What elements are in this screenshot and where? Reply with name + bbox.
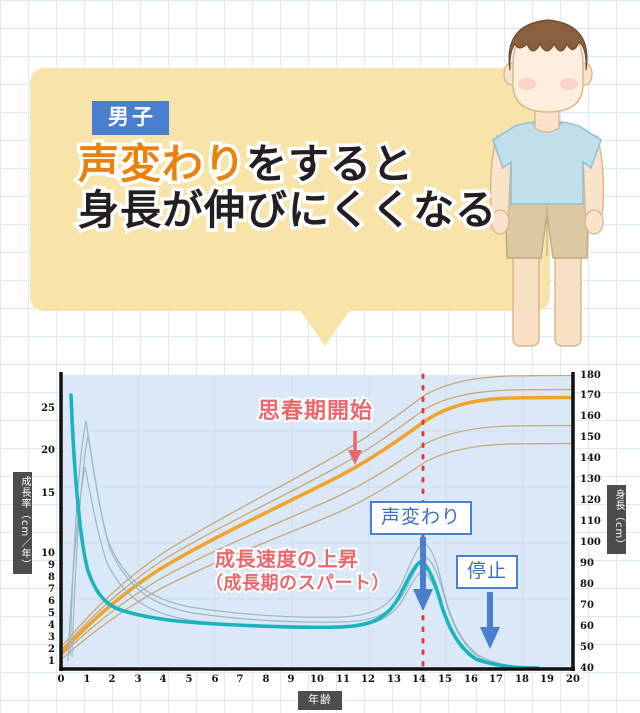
headline-orange-text: 声変わり [78,140,246,188]
tick-right-160: 160 [580,411,604,422]
tick-x-11: 11 [335,674,351,685]
tick-right-70: 70 [580,600,604,611]
tick-left-6: 6 [33,596,55,607]
tick-left-3: 3 [33,632,55,643]
tick-right-120: 120 [580,495,604,506]
tick-right-50: 50 [580,642,604,653]
tick-x-5: 5 [181,674,197,685]
tick-left-10: 10 [33,548,55,559]
tick-x-6: 6 [207,674,223,685]
tick-right-130: 130 [580,474,604,485]
tick-x-9: 9 [283,674,299,685]
page-title: 声変わりをすると 身長が伸びにくくなる [78,142,497,234]
tick-left-5: 5 [33,608,55,619]
tick-right-60: 60 [580,621,604,632]
tick-left-20: 20 [33,445,55,456]
growth-chart: 成長率（cm／年） 身長（cm） 年齢 25 20 15 10 9 8 7 6 … [0,355,640,713]
tick-right-180: 180 [580,370,604,381]
tick-right-40: 40 [580,663,604,674]
tick-left-9: 9 [33,560,55,571]
tick-x-4: 4 [155,674,171,685]
tick-x-16: 16 [463,674,479,685]
tick-left-25: 25 [33,403,55,414]
tick-x-17: 17 [488,674,504,685]
y-axis-left-title: 成長率（cm／年） [13,472,32,574]
headline-line2: 身長が伸びにくくなる [78,186,497,234]
tick-right-170: 170 [580,390,604,401]
gender-badge: 男子 [92,101,169,135]
headline-black-text: をすると [246,140,414,188]
tick-x-0: 0 [53,674,69,685]
tick-x-18: 18 [514,674,530,685]
tick-x-3: 3 [130,674,146,685]
annotation-growth-spurt: 成長速度の上昇 [215,543,359,572]
tick-x-20: 20 [565,674,581,685]
tick-x-10: 10 [309,674,325,685]
annotation-puberty-onset: 思春期開始 [258,393,373,425]
tick-right-110: 110 [580,516,604,527]
hero-callout-tail [300,310,350,346]
tick-left-1: 1 [33,656,55,667]
tick-x-15: 15 [437,674,453,685]
tick-x-13: 13 [386,674,402,685]
tick-right-90: 90 [580,558,604,569]
x-axis-title: 年齢 [298,691,342,710]
tick-left-4: 4 [33,620,55,631]
tick-x-7: 7 [232,674,248,685]
tick-x-2: 2 [104,674,120,685]
y-axis-right-title: 身長（cm） [607,485,626,554]
tick-x-19: 19 [539,674,555,685]
tick-x-1: 1 [79,674,95,685]
tick-right-150: 150 [580,432,604,443]
tick-left-2: 2 [33,644,55,655]
tick-right-80: 80 [580,579,604,590]
tick-right-100: 100 [580,537,604,548]
tick-left-15: 15 [33,488,55,499]
tick-left-8: 8 [33,572,55,583]
tick-left-7: 7 [33,584,55,595]
label-growth-stop[interactable]: 停止 [456,555,518,589]
tick-right-140: 140 [580,453,604,464]
label-voice-change[interactable]: 声変わり [370,501,472,535]
tick-x-14: 14 [411,674,427,685]
tick-x-8: 8 [258,674,274,685]
tick-x-12: 12 [360,674,376,685]
annotation-growth-spurt-detail: （成長期のスパート） [205,569,390,595]
